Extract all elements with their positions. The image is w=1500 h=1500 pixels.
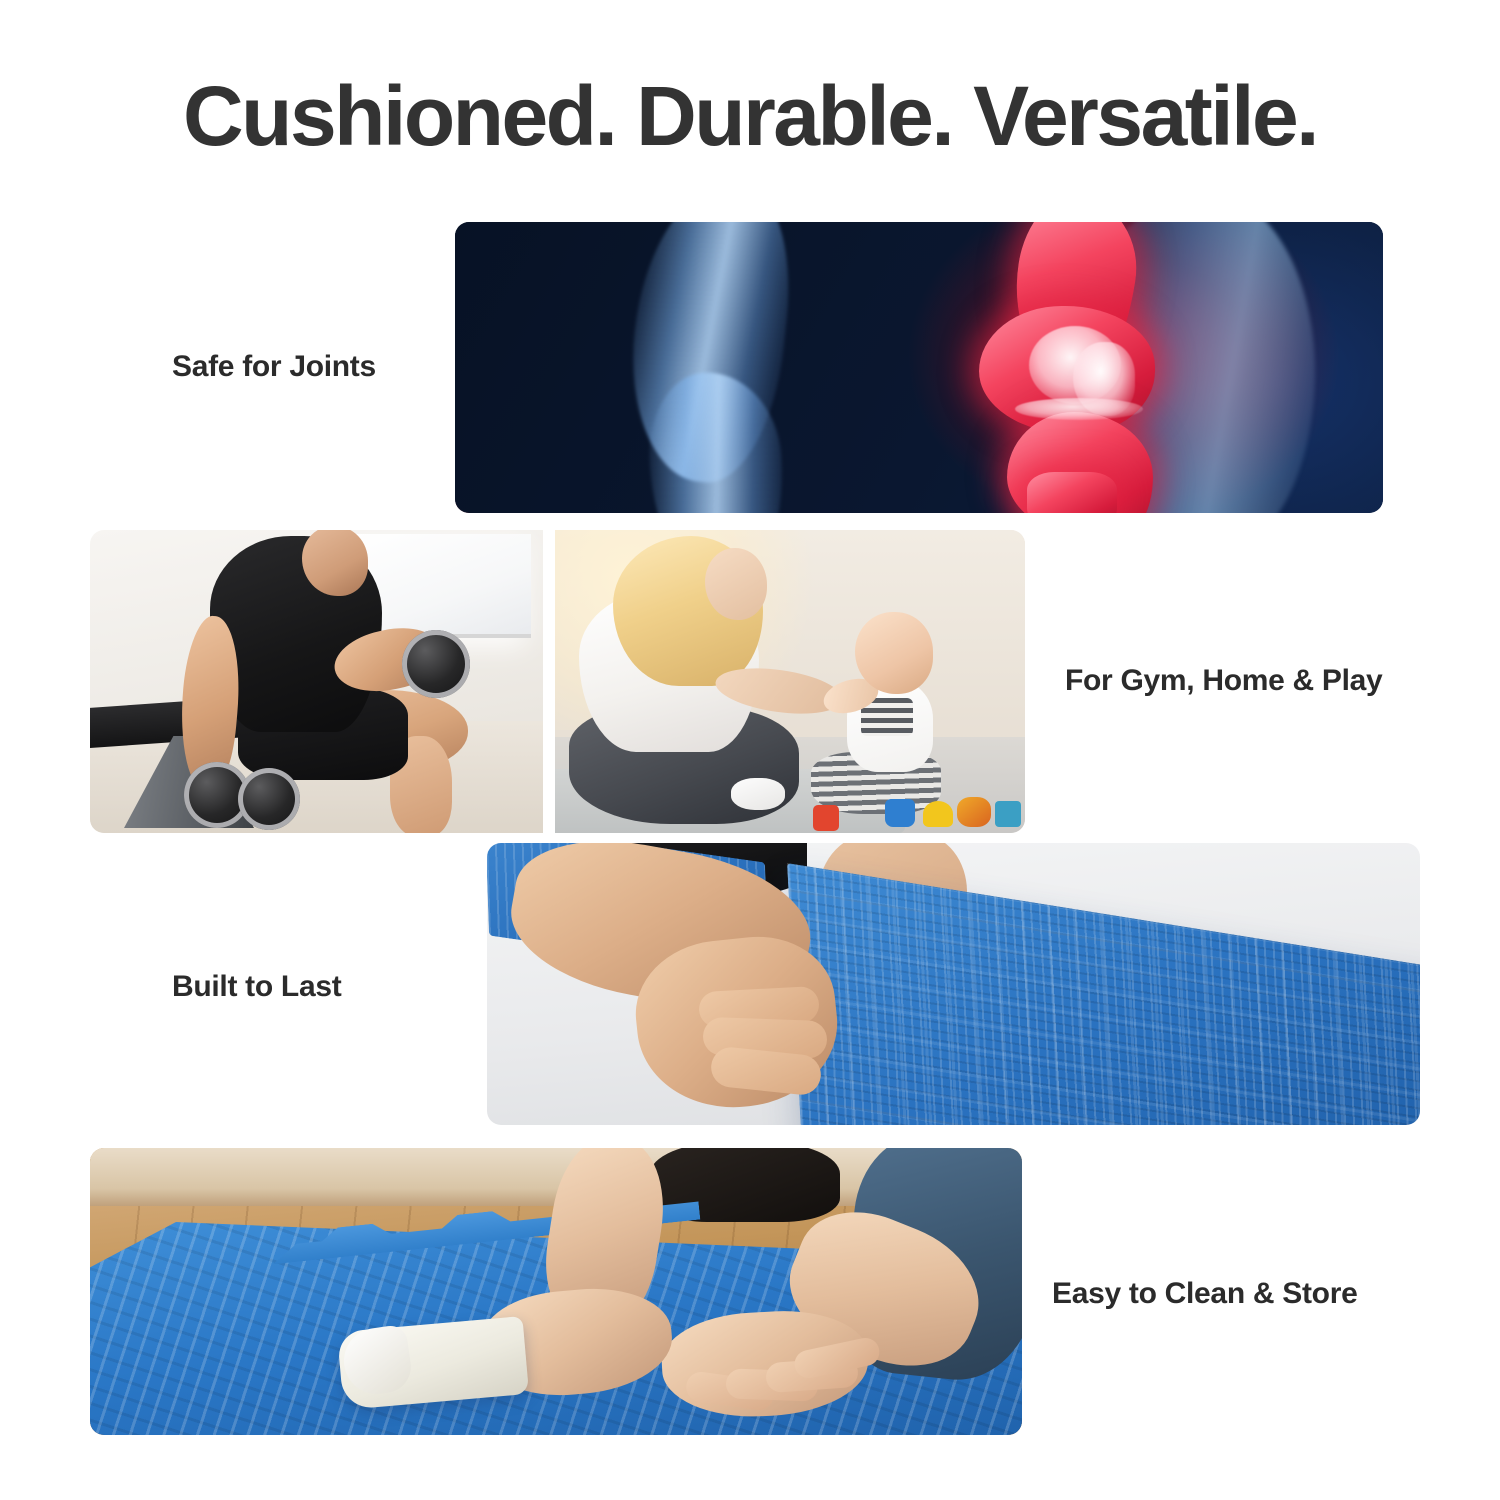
feature-image-durable-mat	[487, 843, 1420, 1125]
joint-gap-highlight	[1015, 398, 1143, 420]
dumbbell-raised	[402, 630, 470, 698]
feature-image-safe-for-joints	[455, 222, 1383, 513]
product-infographic: Cushioned. Durable. Versatile. Safe for …	[0, 0, 1500, 1500]
feature-image-gym-workout	[90, 530, 543, 833]
tibia-shaft-shape	[1027, 472, 1117, 513]
baby-head	[855, 612, 933, 694]
dumbbell-plate	[238, 768, 300, 830]
toy-yellow	[923, 801, 953, 827]
knee-xray-illustration	[455, 222, 1383, 513]
toy-cup-blue	[885, 799, 915, 827]
feature-label-easy-to-clean-and-store: Easy to Clean & Store	[1052, 1277, 1357, 1311]
toy-orange	[957, 797, 991, 827]
feature-image-mother-and-baby	[555, 530, 1025, 833]
mat-basketweave-texture	[787, 863, 1420, 1125]
mother-sock	[731, 778, 785, 810]
foam-mat-tile-lifted	[787, 863, 1420, 1125]
toy-block-red	[813, 805, 839, 831]
toy-teal	[995, 801, 1021, 827]
feature-image-cleaning-mat	[90, 1148, 1022, 1435]
feature-label-safe-for-joints: Safe for Joints	[172, 350, 376, 384]
mother-head	[705, 548, 767, 620]
feature-label-built-to-last: Built to Last	[172, 970, 341, 1004]
feature-label-for-gym-home-and-play: For Gym, Home & Play	[1065, 664, 1382, 698]
page-title: Cushioned. Durable. Versatile.	[0, 72, 1500, 160]
